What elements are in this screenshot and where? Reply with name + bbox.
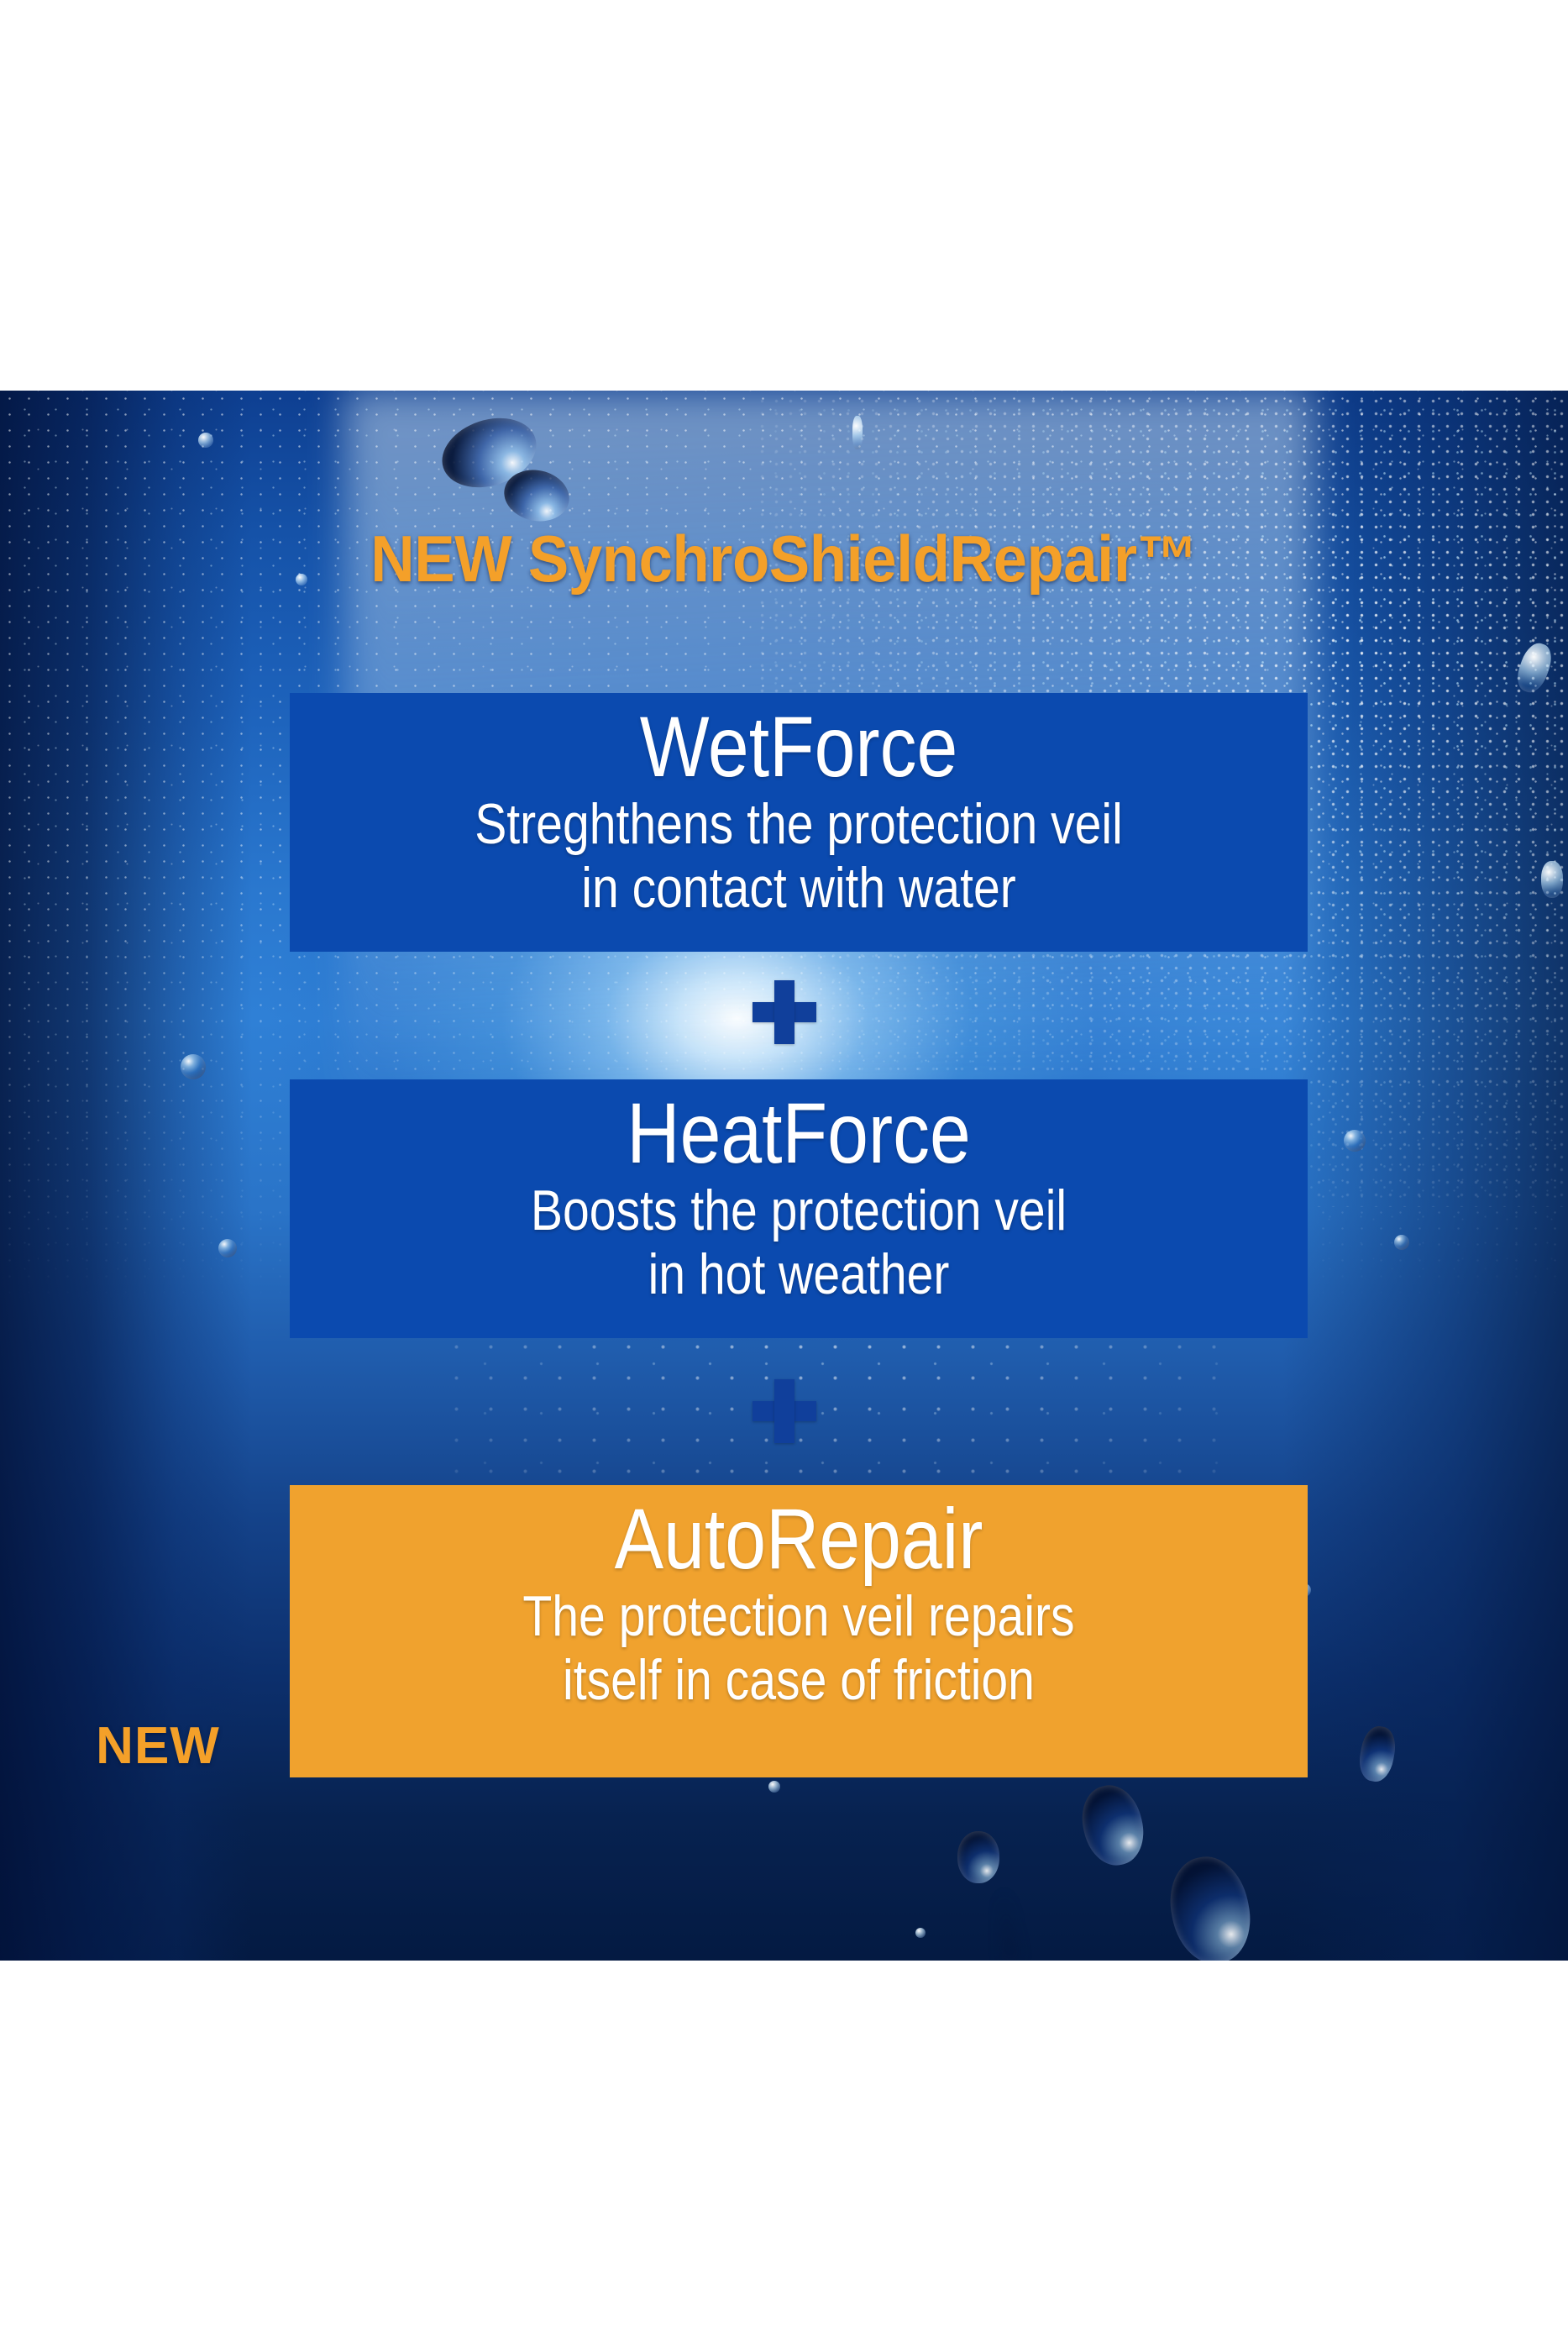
feature-card-autorepair[interactable]: AutoRepair The protection veil repairs i… xyxy=(290,1485,1308,1777)
feature-card-wetforce[interactable]: WetForce Streghthens the protection veil… xyxy=(290,693,1308,952)
new-badge: NEW xyxy=(49,1716,267,1776)
feature-description-line-1-heatforce: Boosts the protection veil xyxy=(400,1179,1198,1242)
underwater-photo-background: NEW SynchroShieldRepair™ WetForce Stregh… xyxy=(0,391,1568,1961)
plus-vertical-bar xyxy=(774,1379,794,1443)
feature-description-line-1-wetforce: Streghthens the protection veil xyxy=(400,792,1198,856)
feature-card-heatforce[interactable]: HeatForce Boosts the protection veil in … xyxy=(290,1079,1308,1338)
feature-description-line-1-autorepair: The protection veil repairs xyxy=(400,1584,1198,1648)
plus-separator-2-icon xyxy=(753,1379,816,1443)
plus-vertical-bar xyxy=(774,980,794,1044)
plus-separator-1-icon xyxy=(753,980,816,1044)
feature-description-line-2-autorepair: itself in case of friction xyxy=(400,1648,1198,1712)
feature-description-line-2-heatforce: in hot weather xyxy=(400,1242,1198,1306)
feature-title-heatforce: HeatForce xyxy=(390,1088,1208,1179)
feature-title-autorepair: AutoRepair xyxy=(390,1494,1208,1584)
feature-description-line-2-wetforce: in contact with water xyxy=(400,856,1198,920)
feature-title-wetforce: WetForce xyxy=(390,701,1208,792)
page-title: NEW SynchroShieldRepair™ xyxy=(55,521,1513,597)
